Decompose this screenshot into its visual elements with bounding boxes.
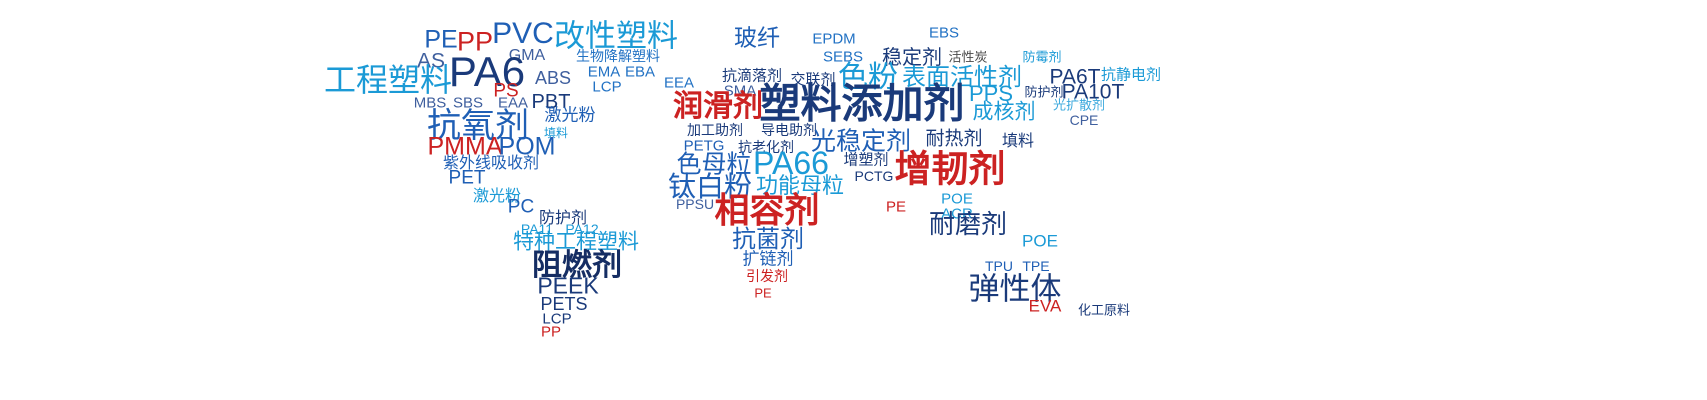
cloud-word[interactable]: PET bbox=[449, 169, 486, 188]
cloud-word[interactable]: 加工助剂 bbox=[687, 124, 743, 138]
cloud-word[interactable]: 生物降解塑料 bbox=[576, 50, 660, 64]
cloud-word[interactable]: EPDM bbox=[812, 32, 855, 47]
cloud-word[interactable]: PE bbox=[886, 200, 906, 215]
word-cloud-canvas: PEPPPVCGMA改性塑料玻纤EPDMEBSASPA6生物降解塑料SEBS稳定… bbox=[0, 0, 1707, 400]
cloud-word[interactable]: 塑料添加剂 bbox=[760, 84, 965, 125]
cloud-word[interactable]: 抗菌剂 bbox=[732, 227, 804, 251]
cloud-word[interactable]: EBA bbox=[625, 65, 655, 80]
cloud-word[interactable]: 耐热剂 bbox=[925, 130, 982, 149]
cloud-word[interactable]: 耐磨剂 bbox=[929, 212, 1007, 238]
cloud-word[interactable]: PCTG bbox=[855, 169, 894, 183]
cloud-word[interactable]: PPSU bbox=[676, 197, 714, 211]
cloud-word[interactable]: 增韧剂 bbox=[895, 151, 1006, 188]
cloud-word[interactable]: 润滑剂 bbox=[673, 92, 763, 122]
cloud-word[interactable]: 工程塑料 bbox=[324, 64, 452, 96]
cloud-word[interactable]: 扩链剂 bbox=[743, 252, 794, 269]
cloud-word[interactable]: 引发剂 bbox=[746, 270, 788, 284]
cloud-word[interactable]: EBS bbox=[929, 26, 959, 41]
cloud-word[interactable]: 增塑剂 bbox=[843, 153, 888, 168]
cloud-word[interactable]: PC bbox=[508, 198, 534, 217]
cloud-word[interactable]: 激光粉 bbox=[545, 108, 596, 125]
cloud-word[interactable]: LCP bbox=[592, 80, 621, 95]
cloud-word[interactable]: 防霉剂 bbox=[1022, 52, 1061, 65]
cloud-word[interactable]: ABS bbox=[535, 69, 571, 87]
cloud-word[interactable]: POE bbox=[941, 192, 973, 207]
cloud-word[interactable]: PVC bbox=[492, 19, 554, 49]
cloud-word[interactable]: 改性塑料 bbox=[554, 22, 678, 53]
cloud-word[interactable]: EMA bbox=[588, 65, 621, 80]
cloud-word[interactable]: PP bbox=[541, 325, 561, 340]
cloud-word[interactable]: 玻纤 bbox=[734, 28, 780, 51]
cloud-word[interactable]: PE bbox=[754, 287, 771, 300]
cloud-word[interactable]: 化工原料 bbox=[1078, 305, 1130, 318]
cloud-word[interactable]: 成核剂 bbox=[973, 102, 1036, 123]
cloud-word[interactable]: 光扩散剂 bbox=[1053, 100, 1105, 113]
cloud-word[interactable]: 导电助剂 bbox=[761, 124, 817, 138]
cloud-word[interactable]: EVA bbox=[1029, 298, 1062, 315]
cloud-word[interactable]: CPE bbox=[1070, 113, 1099, 127]
cloud-word[interactable]: 填料 bbox=[1002, 133, 1034, 149]
cloud-word[interactable]: POE bbox=[1022, 233, 1058, 250]
